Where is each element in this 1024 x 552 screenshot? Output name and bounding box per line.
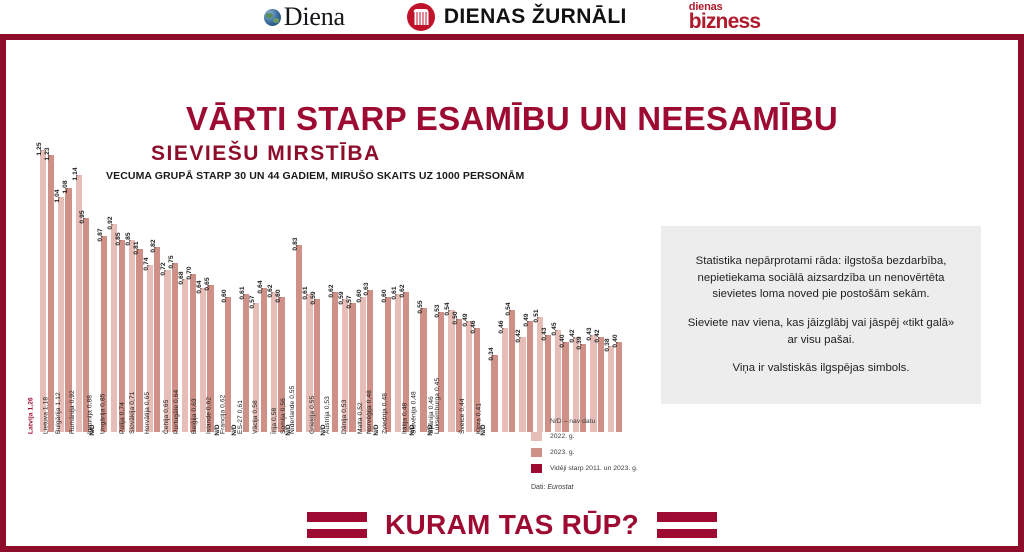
chart-bar-value: 0,46 xyxy=(470,321,477,334)
chart-bar-group: 0,540,50 xyxy=(448,150,463,432)
chart-x-label: Latvija 1,26 xyxy=(40,432,52,510)
chart-bar-value: 0,57 xyxy=(249,296,256,309)
chart-bar-group: N/D0,87 xyxy=(93,150,108,432)
chart-x-label xyxy=(515,432,527,510)
legend-item-2022: 2022. g. xyxy=(531,432,691,441)
chart-bar: 0,54 xyxy=(448,310,454,432)
chart-x-label: Austrija 0,53 xyxy=(337,432,349,510)
poster-frame: VĀRTI STARP ESAMĪBU UN NEESAMĪBU SIEVIEŠ… xyxy=(0,34,1024,552)
chart-bar-value: 1,04 xyxy=(54,190,61,203)
chart-x-label: Portugāle 0,64 xyxy=(188,432,200,510)
chart-x-label: Rumānija 0,92 xyxy=(85,432,97,510)
chart-x-label-text: Portugāle 0,64 xyxy=(172,390,179,434)
chart-x-label: Luksemburga 0,45 xyxy=(456,432,468,510)
chart-bar-group: 0,380,40 xyxy=(608,150,623,432)
chart-bar: 0,83 xyxy=(296,245,302,432)
chart-bar-value: 0,75 xyxy=(168,255,175,268)
chart-bar-value: 0,42 xyxy=(515,330,522,343)
chart-bar-group: N/D0,55 xyxy=(413,150,428,432)
chart-x-label: Ungārija 0,85 xyxy=(114,432,126,510)
chart-bar: 0,42 xyxy=(519,337,525,432)
chart-x-label-text: Igaunija 0,88 xyxy=(86,395,93,434)
chart-x-label: Vācija 0,58 xyxy=(263,432,275,510)
commentary-box: Statistika nepārprotami rāda: ilgstoša b… xyxy=(661,226,981,404)
diena-logo: Diena xyxy=(264,4,345,30)
chart-bar-value: 1,08 xyxy=(62,181,69,194)
chart-x-label-text: Dānija 0,53 xyxy=(341,400,348,434)
chart-x-label: Īrija 0,58 xyxy=(278,432,290,510)
chart-bar-value: 0,34 xyxy=(488,348,495,361)
chart-x-label: Igaunija 0,88 xyxy=(99,432,111,510)
dienas-bizness-bottom-text: bizness xyxy=(689,13,760,31)
chart-x-label-text: Slovākija 0,71 xyxy=(129,392,136,434)
chart-x-label: Beļģija 0,63 xyxy=(203,432,215,510)
chart-bar-value: 0,81 xyxy=(133,242,140,255)
chart-bar-value: 0,53 xyxy=(434,305,441,318)
chart-x-label-text: Francija 0,62 xyxy=(219,395,226,434)
chart-x-label-text: Latvija 1,26 xyxy=(28,397,35,434)
chart-bar-value: 0,70 xyxy=(186,266,193,279)
chart-bar-value: 0,59 xyxy=(338,291,345,304)
legend-swatch-average xyxy=(531,464,542,473)
chart-bar-value: 1,25 xyxy=(36,142,43,155)
chart-plot-area: 1,251,231,041,081,140,95N/D0,870,920,850… xyxy=(40,150,530,432)
chart-bar-value: 0,43 xyxy=(586,327,593,340)
chart-bar-group: N/D0,60 xyxy=(218,150,233,432)
chart-x-label-text: Īrija 0,58 xyxy=(270,408,277,434)
publisher-logo-strip: Diena DIENAS ŽURNĀLI dienas bizness xyxy=(0,0,1024,34)
legend-label-2023: 2023. g. xyxy=(550,449,575,456)
chart-x-label: Islande 0,62 xyxy=(218,432,230,510)
chart-x-label-text: Beļģija 0,63 xyxy=(192,398,199,434)
chart-bar-value: 0,60 xyxy=(381,289,388,302)
chart-bar-value: 0,43 xyxy=(541,327,548,340)
torch-icon xyxy=(407,3,435,31)
chart-bar: 0,49 xyxy=(466,321,472,432)
chart-x-label: Norvēģija 0,48 xyxy=(381,432,393,510)
chart-bar-value: 0,39 xyxy=(576,336,583,349)
chart-bar-value: 0,49 xyxy=(462,314,469,327)
chart-bar-value: 0,82 xyxy=(150,239,157,252)
chart-bar-value: 0,72 xyxy=(160,262,167,275)
chart-source-label: Dati: xyxy=(531,484,545,491)
mortality-bar-chart: 1,251,231,041,081,140,95N/D0,870,920,850… xyxy=(40,150,530,510)
legend-label-average: Vidēji starp 2011. un 2023. g. xyxy=(550,465,638,472)
chart-bar-group: 0,570,64 xyxy=(253,150,268,432)
chart-bar-group: 0,510,43 xyxy=(537,150,552,432)
chart-bar-value: 0,85 xyxy=(115,233,122,246)
chart-x-label-text: Ungārija 0,85 xyxy=(100,393,107,434)
chart-x-label: Slovēnija 0,48 xyxy=(426,432,438,510)
diena-logo-text: Diena xyxy=(284,4,345,30)
chart-bar-value: 0,61 xyxy=(391,287,398,300)
chart-x-label-text: Šveice 0,44 xyxy=(459,398,466,434)
chart-x-label: Kipra 0,41 xyxy=(485,432,497,510)
chart-bar-value: 0,49 xyxy=(523,314,530,327)
chart-bar-value: 0,95 xyxy=(79,210,86,223)
chart-bar-value: 0,83 xyxy=(292,237,299,250)
chart-bar-value: 0,85 xyxy=(125,233,132,246)
chart-bar-value: 0,40 xyxy=(559,334,566,347)
chart-x-label: Grieķija 0,55 xyxy=(322,432,334,510)
chart-bar: 0,57 xyxy=(349,303,355,432)
legend-label-2022: 2022. g. xyxy=(550,433,575,440)
chart-x-label: Bulgārija 1,12 xyxy=(70,432,82,510)
chart-bar-value: 0,92 xyxy=(107,217,114,230)
chart-bar-value: 0,61 xyxy=(302,287,309,300)
campaign-banner-text: KURAM TAS RŪP? xyxy=(385,509,639,541)
chart-bar: 0,55 xyxy=(420,308,426,432)
chart-x-label-text: Slovēnija 0,48 xyxy=(411,391,418,434)
chart-bar-value: 0,42 xyxy=(569,330,576,343)
chart-x-label-text: Grieķija 0,55 xyxy=(309,396,316,434)
chart-bar-value: 0,40 xyxy=(612,334,619,347)
chart-bar-group: 0,430,42 xyxy=(590,150,605,432)
chart-x-label-text: Itālija 0,48 xyxy=(402,403,409,434)
chart-bar-group: 0,610,62 xyxy=(395,150,410,432)
legend-item-2023: 2023. g. xyxy=(531,448,691,457)
chart-bar-group: N/D0,61 xyxy=(235,150,250,432)
chart-x-label-text: Luksemburga 0,45 xyxy=(434,378,441,434)
legend-item-average: Vidēji starp 2011. un 2023. g. xyxy=(531,464,691,473)
chart-bar-value: 0,55 xyxy=(417,300,424,313)
chart-x-label-text: Zviedrija 0,48 xyxy=(382,393,389,434)
chart-bar-value: 0,54 xyxy=(444,303,451,316)
chart-bar-group: N/D0,62 xyxy=(324,150,339,432)
chart-bar-value: 0,62 xyxy=(328,285,335,298)
dienas-zurnali-logo-text: DIENAS ŽURNĀLI xyxy=(444,5,627,29)
chart-bar-value: 0,64 xyxy=(257,280,264,293)
chart-x-label-text: Austrija 0,53 xyxy=(324,396,331,434)
chart-x-label: Slovākija 0,71 xyxy=(144,432,156,510)
chart-x-label: Horvātija 0,65 xyxy=(159,432,171,510)
chart-bar-value: 1,14 xyxy=(72,167,79,180)
chart-bar-value: 0,54 xyxy=(505,303,512,316)
chart-bar: 1,25 xyxy=(40,150,46,432)
chart-bar-value: 0,63 xyxy=(363,282,370,295)
chart-bar: 0,62 xyxy=(332,292,338,432)
chart-bar: 0,68 xyxy=(182,279,188,432)
chart-bar-group: 0,610,59 xyxy=(306,150,321,432)
chart-bar-value: 0,57 xyxy=(346,296,353,309)
chart-bar-group: 0,640,65 xyxy=(200,150,215,432)
chart-x-label-text: Islande 0,62 xyxy=(206,397,213,434)
chart-x-label: Somija 0,56 xyxy=(292,432,304,510)
chart-bar-value: 0,62 xyxy=(267,285,274,298)
legend-swatch-2022 xyxy=(531,432,542,441)
chart-x-label-text: Polija 0,74 xyxy=(119,402,126,434)
chart-bar-value: 0,65 xyxy=(204,278,211,291)
chart-bar-group: 0,420,49 xyxy=(519,150,534,432)
chart-bar-value: 0,46 xyxy=(498,321,505,334)
chart-bar-value: 0,45 xyxy=(551,323,558,336)
globe-icon xyxy=(264,9,281,26)
chart-bar-value: 0,87 xyxy=(97,228,104,241)
chart-legend: N/D – nav datu 2022. g. 2023. g. Vidēji … xyxy=(531,418,691,491)
chart-bar-value: 0,60 xyxy=(275,289,282,302)
chart-x-label-text: ES-27 0,61 xyxy=(237,400,244,434)
chart-bar-group: 0,850,81 xyxy=(129,150,144,432)
chart-x-label: Šveice 0,44 xyxy=(470,432,482,510)
chart-bar-value: 0,74 xyxy=(143,257,150,270)
chart-x-label xyxy=(500,432,512,510)
chart-bar: 0,49 xyxy=(527,321,533,432)
chart-bar-group: 0,590,57 xyxy=(342,150,357,432)
chart-x-label: ES-27 0,61 xyxy=(248,432,260,510)
chart-source: Dati: Eurostat xyxy=(531,484,691,491)
chart-x-label-text: Vācija 0,58 xyxy=(252,400,259,434)
chart-x-label: Malta 0,52 xyxy=(367,432,379,510)
chart-x-label-text: Čehija 0,65 xyxy=(162,400,169,434)
dienas-zurnali-logo: DIENAS ŽURNĀLI xyxy=(407,3,627,31)
chart-x-label-text: Kipra 0,41 xyxy=(476,403,483,434)
chart-bar-group: 0,420,39 xyxy=(573,150,588,432)
latvian-flag-right-icon xyxy=(657,512,717,538)
chart-bar-value: 0,68 xyxy=(178,271,185,284)
chart-bar-value: 0,62 xyxy=(399,285,406,298)
chart-bar-value: 0,61 xyxy=(239,287,246,300)
poster-sheet: VĀRTI STARP ESAMĪBU UN NEESAMĪBU SIEVIEŠ… xyxy=(6,40,1018,546)
chart-x-label: Lietuva 1,18 xyxy=(55,432,67,510)
chart-bar: 0,81 xyxy=(136,249,142,432)
chart-bar-group: 0,920,85 xyxy=(111,150,126,432)
chart-x-label-text: Bulgārija 1,12 xyxy=(55,392,62,434)
chart-x-label-text: Malta 0,52 xyxy=(357,402,364,434)
chart-bar-value: 0,50 xyxy=(452,312,459,325)
dienas-bizness-logo: dienas bizness xyxy=(689,3,760,30)
chart-x-label: Zviedrija 0,48 xyxy=(396,432,408,510)
chart-bar-group: 0,620,60 xyxy=(271,150,286,432)
chart-bar: 0,64 xyxy=(261,288,267,432)
chart-x-label: Francija 0,62 xyxy=(233,432,245,510)
chart-bar-group: N/D0,34 xyxy=(484,150,499,432)
chart-bar-group: 0,740,82 xyxy=(147,150,162,432)
page-title: VĀRTI STARP ESAMĪBU UN NEESAMĪBU xyxy=(6,100,1018,138)
chart-bar-group: 0,680,70 xyxy=(182,150,197,432)
chart-bar-value: 1,23 xyxy=(44,147,51,160)
chart-bar-group: 0,460,54 xyxy=(502,150,517,432)
commentary-paragraph-1: Statistika nepārprotami rāda: ilgstoša b… xyxy=(683,253,959,303)
chart-x-label: Spānija 0,46 xyxy=(441,432,453,510)
chart-bar: 0,92 xyxy=(111,224,117,432)
campaign-banner: KURAM TAS RŪP? xyxy=(6,504,1018,546)
chart-bar: 1,23 xyxy=(48,155,54,432)
latvian-flag-left-icon xyxy=(307,512,367,538)
chart-x-label-text: Lietuva 1,18 xyxy=(42,397,49,434)
chart-x-label-text: Horvātija 0,65 xyxy=(144,392,151,434)
chart-x-label: Nīderlande 0,55 xyxy=(307,432,319,510)
chart-bar: 0,46 xyxy=(502,328,508,432)
chart-bar: 0,34 xyxy=(491,355,497,432)
chart-bar-group: 1,251,23 xyxy=(40,150,55,432)
chart-x-label-text: Norvēģija 0,48 xyxy=(366,390,373,434)
chart-bar-group: 0,490,46 xyxy=(466,150,481,432)
chart-x-label: Dānija 0,53 xyxy=(352,432,364,510)
chart-bar-value: 0,38 xyxy=(604,339,611,352)
chart-bar-group: 1,140,95 xyxy=(76,150,91,432)
chart-bar-value: 0,64 xyxy=(196,280,203,293)
legend-swatch-2023 xyxy=(531,448,542,457)
chart-bar-value: 0,42 xyxy=(594,330,601,343)
chart-bar-value: 0,51 xyxy=(533,309,540,322)
chart-x-label: Polija 0,74 xyxy=(129,432,141,510)
legend-nodata-note: N/D – nav datu xyxy=(550,418,691,425)
chart-x-label-text: Nīderlande 0,55 xyxy=(289,386,296,434)
chart-bar-group: 0,450,40 xyxy=(555,150,570,432)
chart-x-label-text: Rumānija 0,92 xyxy=(69,390,76,434)
chart-x-label-text: Somija 0,56 xyxy=(281,398,288,434)
chart-bar-value: 0,59 xyxy=(310,291,317,304)
chart-x-axis-labels: Latvija 1,26Lietuva 1,18Bulgārija 1,12Ru… xyxy=(40,432,530,510)
chart-bar-value: 0,60 xyxy=(221,289,228,302)
chart-x-label: Itālija 0,48 xyxy=(411,432,423,510)
chart-x-label: Čehija 0,65 xyxy=(174,432,186,510)
chart-source-value: Eurostat xyxy=(547,484,573,491)
chart-bar-value: 0,60 xyxy=(356,289,363,302)
commentary-paragraph-3: Viņa ir valstiskās ilgspējas simbols. xyxy=(683,360,959,377)
commentary-paragraph-2: Sieviete nav viena, kas jāizglābj vai jā… xyxy=(683,315,959,348)
